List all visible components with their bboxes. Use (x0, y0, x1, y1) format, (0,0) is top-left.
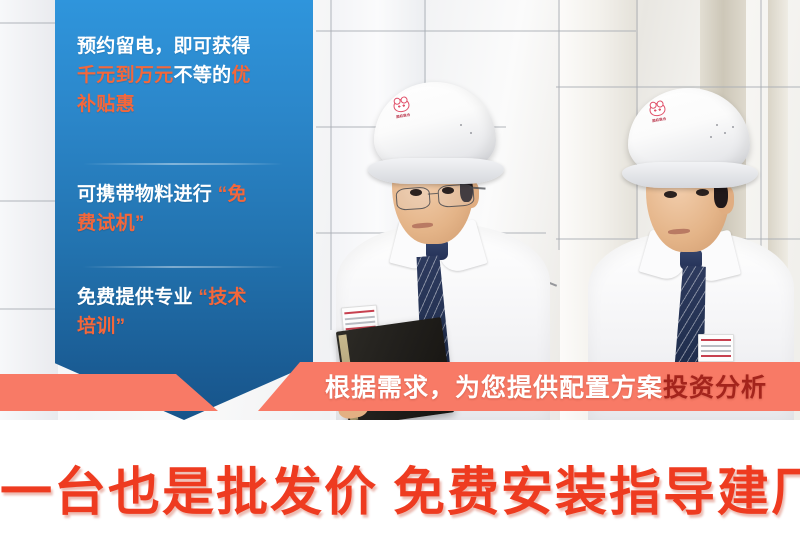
helmet-vent (716, 124, 718, 126)
helmet-vent (724, 132, 726, 134)
promo-banner: 国机联合 (0, 0, 800, 533)
feature-line: 可携带物料进行 “免 (77, 180, 293, 209)
glasses-bridge (428, 193, 438, 195)
orange-banner-text-dark: 投资分析 (663, 374, 767, 402)
badge-stripe (701, 350, 731, 352)
orange-banner-text: 根据需求，为您提供配置方案投资分析 (325, 370, 785, 406)
person-left: 国机联合 (336, 28, 566, 420)
orange-banner-text-white: 根据需求，为您提供配置方案 (325, 374, 663, 402)
wall-line (0, 200, 58, 202)
helmet-vent (460, 124, 462, 126)
feature-block-free-training: 免费提供专业 “技术 培训” (77, 283, 293, 341)
hard-hat-logo-right: 国机联合 (648, 102, 667, 123)
feature-line: 补贴惠 (77, 90, 293, 119)
window-mullion (330, 0, 332, 330)
badge-stripe (701, 345, 731, 347)
text-segment-highlight: 千元到万元 (77, 65, 174, 86)
text-segment: 可携带物料进行 (77, 184, 218, 205)
text-segment-highlight: 补贴惠 (77, 94, 135, 115)
text-segment-highlight: 费试机” (77, 213, 145, 234)
bottom-headline-area: 一台也是批发价 免费安装指导建厂 (0, 420, 800, 533)
text-segment-highlight: “免 (218, 184, 247, 205)
feature-line: 培训” (77, 312, 293, 341)
helmet-vent (470, 132, 472, 134)
text-segment: 免费提供专业 (77, 287, 198, 308)
badge-stripe (701, 355, 731, 357)
text-segment-highlight: 优 (231, 65, 250, 86)
feature-divider (83, 266, 283, 268)
text-segment: 不等的 (174, 65, 232, 86)
feature-line: 费试机” (77, 209, 293, 238)
feature-block-appointment-offer: 预约留电，即可获得 千元到万元不等的优 补贴惠 (77, 32, 293, 119)
text-segment-highlight: 培训” (77, 316, 125, 337)
eye-right (664, 191, 677, 198)
badge-stripe (344, 310, 374, 314)
wall-line (0, 22, 58, 24)
badge-stripe (345, 316, 375, 320)
helmet-vent (710, 136, 712, 138)
blue-feature-panel: 预约留电，即可获得 千元到万元不等的优 补贴惠 可携带物料进行 “免 费试机” … (55, 0, 313, 420)
feature-divider (83, 163, 283, 165)
hard-hat-brim-left (368, 158, 504, 184)
eye-right (696, 189, 709, 196)
pig-logo-eyes (653, 107, 662, 112)
eye-left (410, 189, 422, 196)
text-segment-highlight: “技术 (198, 287, 246, 308)
feature-block-free-trial: 可携带物料进行 “免 费试机” (77, 180, 293, 238)
wall-line (0, 308, 58, 310)
badge-stripe (701, 339, 731, 341)
feature-line: 预约留电，即可获得 (77, 32, 293, 61)
hard-hat-brim-right (622, 162, 758, 188)
badge-stripe (345, 321, 375, 325)
pig-logo-eyes (397, 103, 406, 108)
id-badge-right (698, 334, 734, 362)
bottom-headline: 一台也是批发价 免费安装指导建厂 (0, 450, 800, 525)
text-segment: 预约留电，即可获得 (77, 36, 251, 57)
hard-hat-logo-left: 国机联合 (392, 98, 411, 119)
blue-panel-content: 预约留电，即可获得 千元到万元不等的优 补贴惠 可携带物料进行 “免 费试机” … (55, 0, 313, 420)
feature-line: 千元到万元不等的优 (77, 61, 293, 90)
helmet-vent (732, 126, 734, 128)
wall-panel (0, 0, 58, 420)
eye-left (442, 187, 454, 194)
feature-line: 免费提供专业 “技术 (77, 283, 293, 312)
